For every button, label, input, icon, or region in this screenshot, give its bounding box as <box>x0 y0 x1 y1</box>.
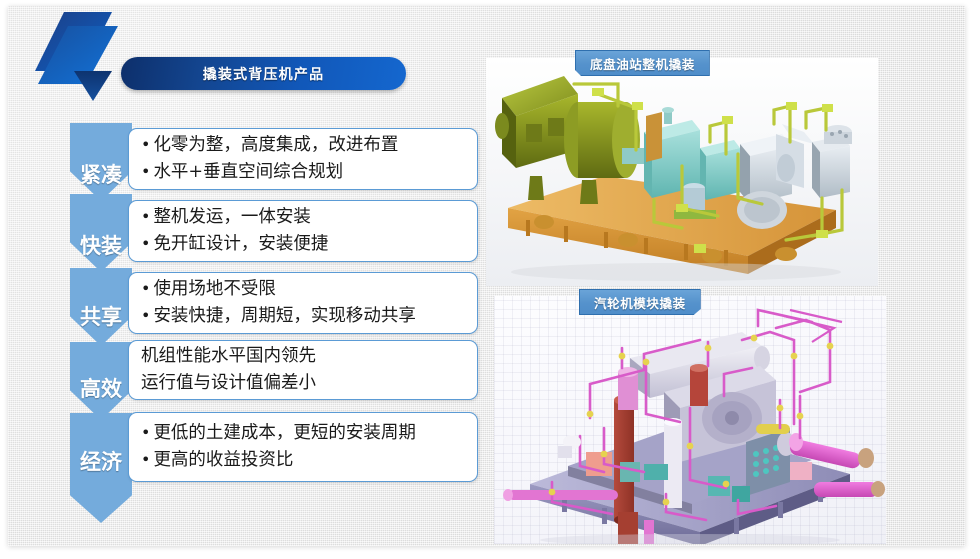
feature-box-3: 使用场地不受限 安装快捷，周期短，实现移动共享 <box>128 272 478 334</box>
steam-turbine-module-skid-render-icon <box>494 296 886 544</box>
feature-line: 使用场地不受限 <box>141 276 467 303</box>
page-title: 撬装式背压机产品 <box>203 64 325 84</box>
chevron-6 <box>70 457 132 523</box>
image-caption-chassis: 底盘油站整机撬装 <box>575 50 710 76</box>
chevron-2 <box>70 194 132 272</box>
feature-line: 运行值与设计值偏差小 <box>141 370 467 397</box>
slide-title-banner: 撬装式背压机产品 <box>121 57 406 90</box>
feature-box-5: 更低的土建成本，更短的安装周期 更高的收益投资比 <box>128 412 478 482</box>
skid-mounted-generator-set-render-icon <box>486 58 878 286</box>
chevron-3 <box>70 268 132 346</box>
feature-line: 更低的土建成本，更短的安装周期 <box>141 420 467 447</box>
chevron-4 <box>70 342 132 420</box>
feature-box-2: 整机发运，一体安装 免开缸设计，安装便捷 <box>128 200 478 262</box>
feature-line: 更高的收益投资比 <box>141 447 467 474</box>
image-caption-turbine: 汽轮机模块撬装 <box>579 289 701 315</box>
product-image-chassis-oil-station <box>486 58 878 286</box>
feature-line: 免开缸设计，安装便捷 <box>141 231 467 258</box>
feature-box-1: 化零为整，高度集成，改进布置 水平+垂直空间综合规划 <box>128 128 478 190</box>
chevron-stack <box>70 123 132 523</box>
feature-line: 化零为整，高度集成，改进布置 <box>141 132 467 159</box>
slide-canvas: 撬装式背压机产品 紧凑 快装 共享 高效 经济 化零为整，高度集成，改进布置 水… <box>8 6 965 546</box>
caption-text: 底盘油站整机撬装 <box>590 54 695 73</box>
product-image-turbine-module <box>494 296 886 544</box>
feature-line: 安装快捷，周期短，实现移动共享 <box>141 303 467 330</box>
feature-line: 水平+垂直空间综合规划 <box>141 159 467 186</box>
caption-text: 汽轮机模块撬装 <box>594 293 686 312</box>
chevron-1 <box>70 123 132 201</box>
feature-box-4: 机组性能水平国内领先 运行值与设计值偏差小 <box>128 340 478 400</box>
feature-line: 整机发运，一体安装 <box>141 204 467 231</box>
feature-line: 机组性能水平国内领先 <box>141 343 467 370</box>
